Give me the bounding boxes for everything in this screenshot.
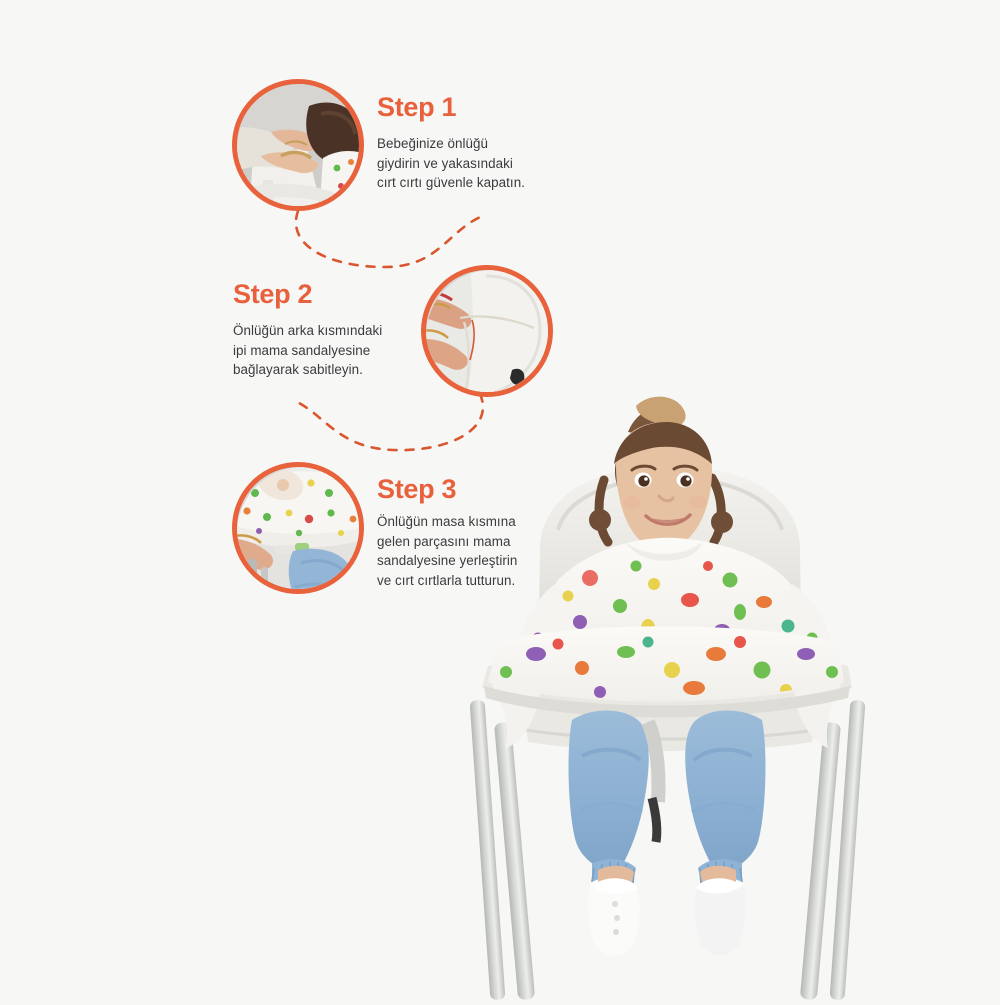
step-1-image — [237, 84, 359, 206]
step-1-photo — [232, 79, 364, 211]
step-1-body: Bebeğinize önlüğü giydirin ve yakasındak… — [377, 134, 577, 193]
hero-image — [440, 370, 900, 1000]
step-2-title: Step 2 — [233, 279, 312, 310]
hero-photo — [440, 370, 900, 1000]
step-3-image — [237, 467, 359, 589]
jeans-right — [685, 711, 765, 877]
step-1-title: Step 1 — [377, 92, 456, 123]
infographic-canvas: Step 1 Bebeğinize önlüğü giydirin ve yak… — [0, 0, 1000, 1000]
step-2-body: Önlüğün arka kısmındaki ipi mama sandaly… — [233, 321, 443, 380]
step-3-photo — [232, 462, 364, 594]
jeans-left — [569, 711, 649, 877]
